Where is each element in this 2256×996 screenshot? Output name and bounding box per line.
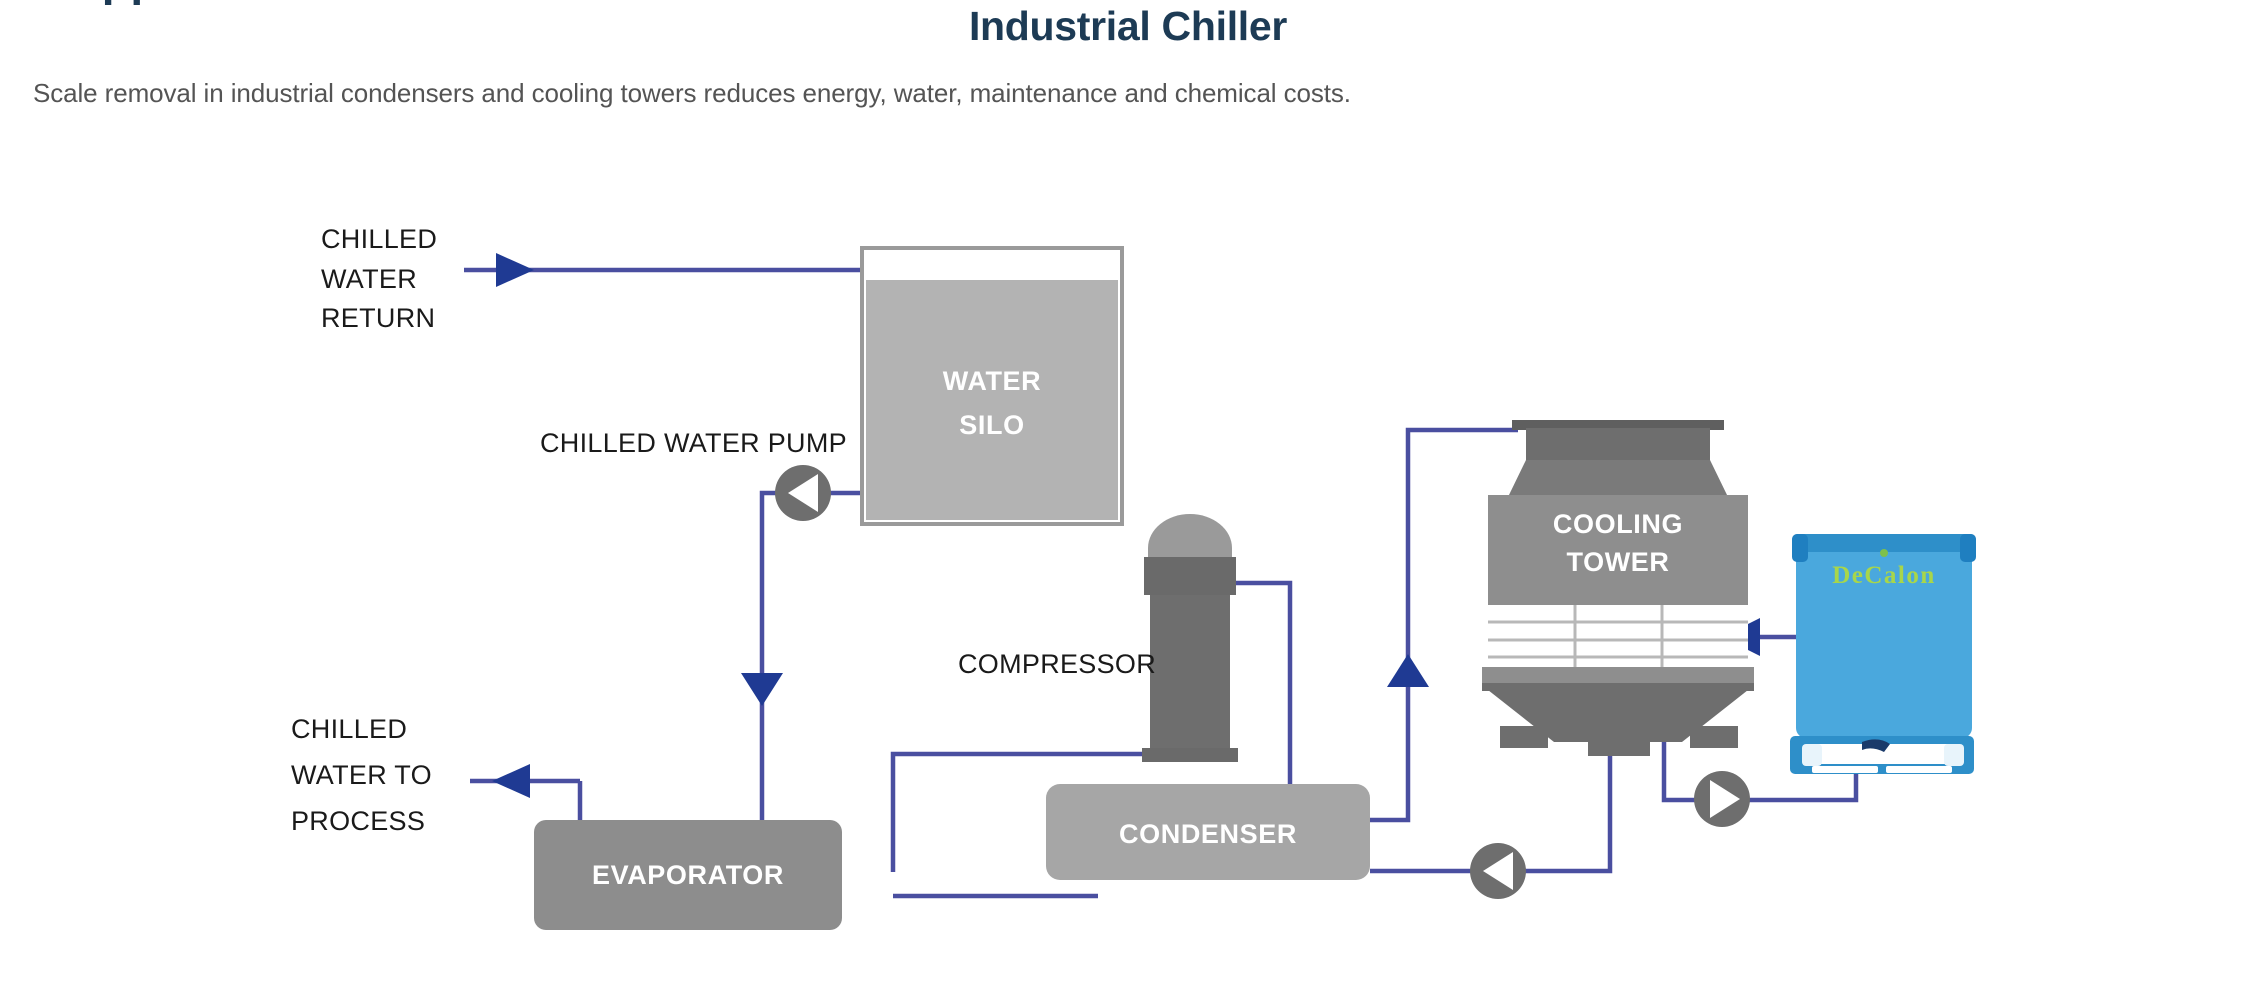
chiller-diagram-page: Applications Industrial Chiller Scale re… xyxy=(0,0,2256,996)
decalon-brand-label: DeCalon xyxy=(1832,562,1936,589)
compressor-label: COMPRESSOR xyxy=(958,649,1156,679)
chilled-water-return-arrow xyxy=(496,253,534,287)
equipment-decalon-tank: DeCalon xyxy=(1790,534,1976,774)
condenser-label: CONDENSER xyxy=(1119,819,1297,849)
chilled-water-to-process-label-line1: CHILLED xyxy=(291,714,407,744)
chilled-water-to-process-arrow xyxy=(492,764,530,798)
chilled-water-return-label-line3: RETURN xyxy=(321,303,435,333)
equipment-water-silo: WATER SILO xyxy=(862,248,1122,524)
water-silo-label-line2: SILO xyxy=(959,410,1024,440)
cooling-tower-louvers xyxy=(1488,605,1748,667)
pipe-silo-to-evaporator xyxy=(762,493,862,826)
chilled-water-return-label-line2: WATER xyxy=(321,264,417,294)
cooling-tower-label-line2: TOWER xyxy=(1567,547,1670,577)
water-silo-label-line1: WATER xyxy=(943,366,1042,396)
chilled-water-to-process-label-line2: WATER TO xyxy=(291,760,432,790)
equipment-evaporator: EVAPORATOR xyxy=(534,820,842,930)
equipment-condenser: CONDENSER xyxy=(1046,784,1370,880)
pipe-compressor-to-condenser xyxy=(1232,583,1290,786)
chilled-water-pump-label: CHILLED WATER PUMP xyxy=(540,428,847,458)
chilled-water-to-process-label-line3: PROCESS xyxy=(291,806,425,836)
equipment-compressor xyxy=(1142,514,1238,762)
cooling-tower-label-line1: COOLING xyxy=(1553,509,1683,539)
condenser-water-riser-arrow xyxy=(1387,654,1429,687)
pump-chilled-water xyxy=(775,465,831,521)
evaporator-label: EVAPORATOR xyxy=(592,860,784,890)
industrial-chiller-schematic: WATER SILO CONDENSER xyxy=(0,0,2256,996)
evaporator-feed-arrow xyxy=(741,673,783,706)
equipment-cooling-tower: COOLING TOWER xyxy=(1482,420,1754,756)
chilled-water-return-label-line1: CHILLED xyxy=(321,224,437,254)
pump-condenser-water xyxy=(1470,843,1526,899)
pump-decalon-dosing xyxy=(1694,771,1750,827)
